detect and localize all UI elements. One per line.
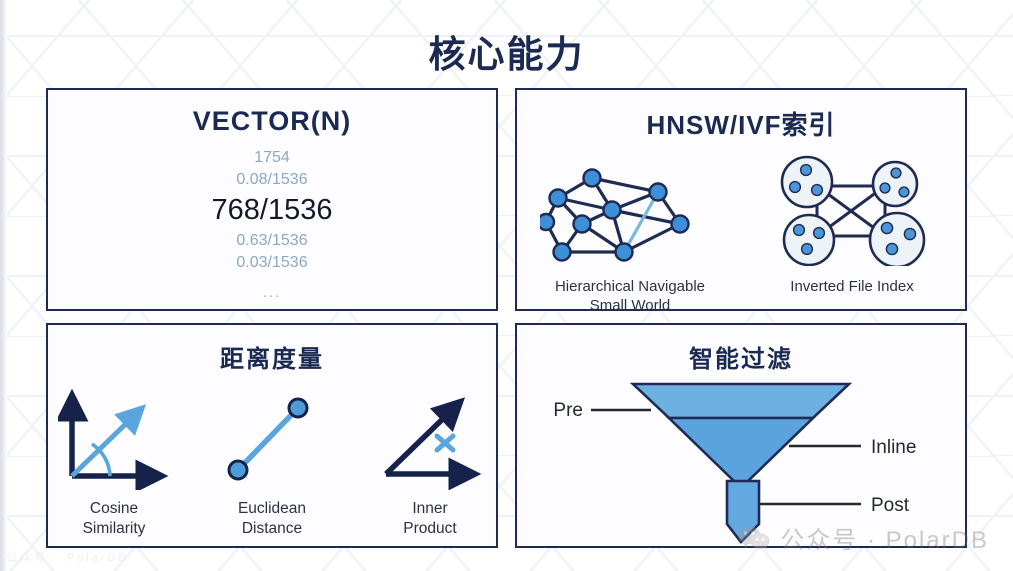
metric-caption-euclidean: Euclidean Distance	[213, 499, 331, 539]
vector-value: 0.03/1536	[48, 252, 496, 274]
index-caption-hnsw: Hierarchical Navigable Small World	[540, 277, 720, 315]
metric-item-inner-product: Inner Product	[371, 388, 489, 539]
vector-value: 0.63/1536	[48, 230, 496, 252]
funnel-label-inline: Inline	[871, 437, 916, 458]
funnel-label-pre: Pre	[553, 400, 583, 421]
panel-distance-metrics: 距离度量 Cosine Similarity	[46, 323, 498, 548]
index-item-hnsw: Hierarchical Navigable Small World	[540, 154, 720, 315]
panel-vector-title: VECTOR(N)	[48, 106, 496, 137]
index-caption-ivf: Inverted File Index	[762, 277, 942, 296]
funnel-label-post: Post	[871, 495, 910, 516]
metric-diagram-row: Cosine Similarity Euclidean Distance Inn…	[48, 388, 496, 539]
vector-value: 0.08/1536	[48, 169, 496, 191]
vector-value: 1754	[48, 147, 496, 169]
panel-index-types: HNSW/IVF索引	[515, 88, 967, 311]
metric-item-cosine: Cosine Similarity	[55, 388, 173, 539]
vector-list-ellipsis: ...	[48, 283, 496, 304]
metric-caption-inner-product: Inner Product	[371, 499, 489, 539]
page-title-text: 核心能力	[429, 34, 585, 75]
funnel-diagram: Pre Inline Post	[517, 376, 965, 548]
left-edge-stripe	[0, 0, 7, 571]
index-diagram-row: Hierarchical Navigable Small World	[517, 154, 965, 315]
euclidean-distance-icon	[216, 388, 328, 490]
panel-index-title: HNSW/IVF索引	[517, 105, 965, 142]
index-item-ivf: Inverted File Index	[762, 154, 942, 296]
hnsw-graph-icon	[540, 154, 720, 266]
ivf-clusters-icon	[777, 154, 927, 266]
vector-value-highlighted: 768/1536	[48, 191, 496, 230]
page-title: 核心能力	[0, 24, 1013, 78]
funnel-svg: Pre Inline Post	[531, 376, 951, 548]
inner-product-icon	[374, 388, 486, 490]
metric-caption-cosine: Cosine Similarity	[55, 499, 173, 539]
panel-metric-title: 距离度量	[48, 339, 496, 374]
panel-vector-type: VECTOR(N) 1754 0.08/1536 768/1536 0.63/1…	[46, 88, 498, 311]
metric-item-euclidean: Euclidean Distance	[213, 388, 331, 539]
cosine-similarity-icon	[58, 388, 170, 490]
vector-dimension-list: 1754 0.08/1536 768/1536 0.63/1536 0.03/1…	[48, 147, 496, 304]
panel-filter-title: 智能过滤	[517, 339, 965, 374]
panel-smart-filter: 智能过滤 Pre Inline Post	[515, 323, 967, 548]
watermark-corner-text: 公众号 · PolarDB	[6, 549, 129, 565]
